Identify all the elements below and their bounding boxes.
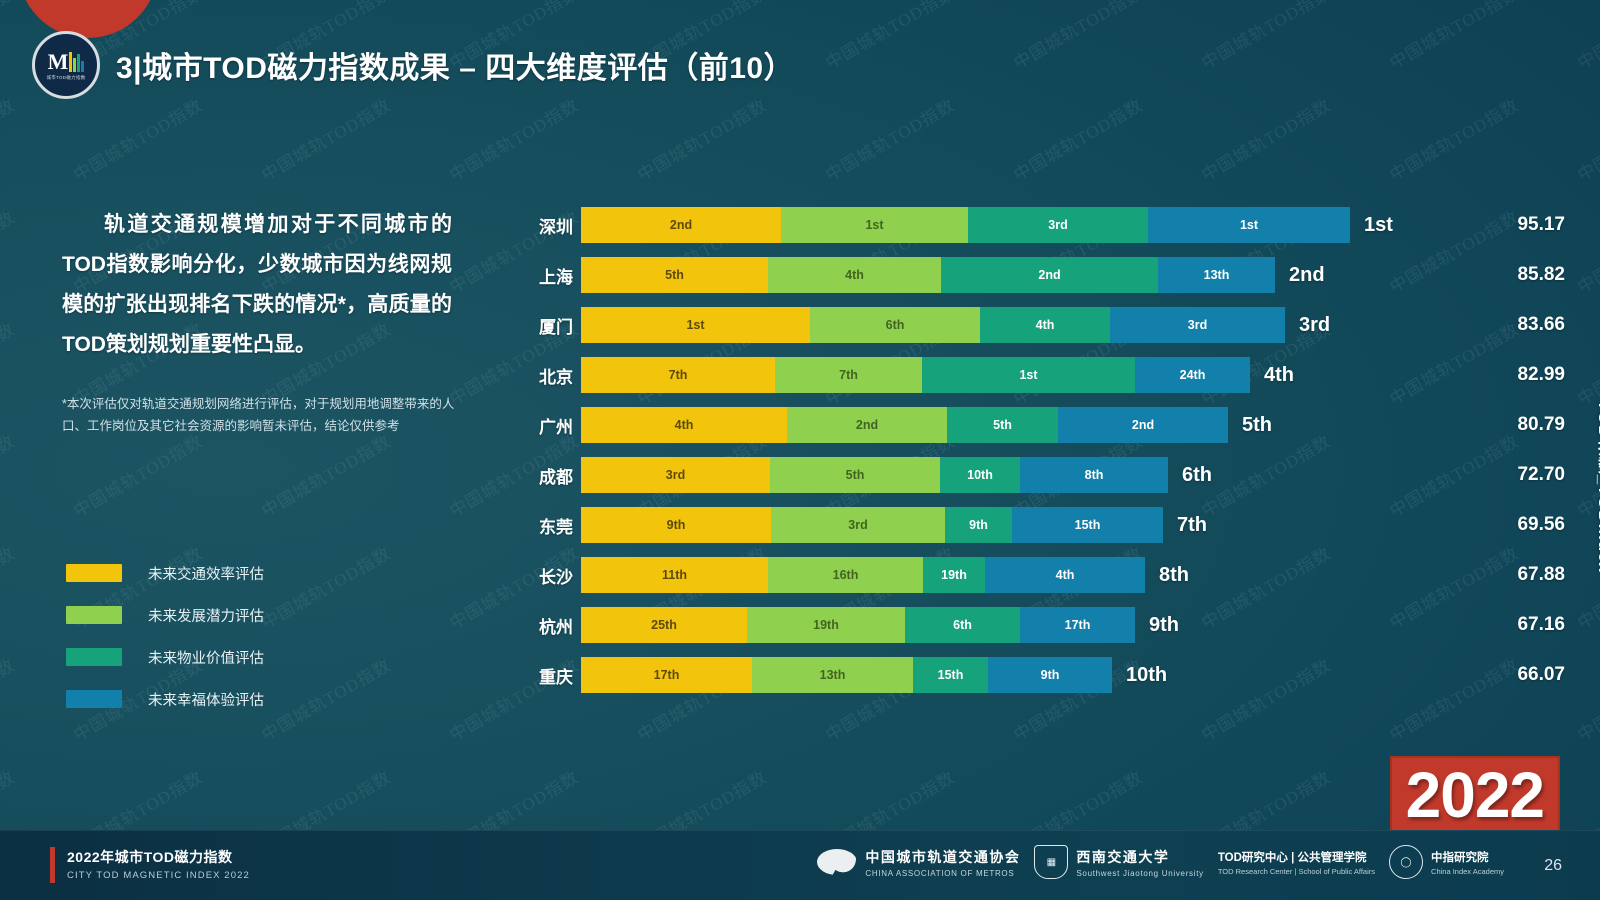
- bar-segment[interactable]: 3rd: [771, 507, 945, 543]
- footer-logo-en: Southwest Jiaotong University: [1076, 869, 1203, 878]
- bar-track: 1st6th4th3rd: [581, 307, 1285, 343]
- watermark-text: 中国城轨TOD指数: [1572, 91, 1600, 185]
- total-rank-label: 4th: [1264, 364, 1294, 387]
- total-rank-label: 10th: [1126, 664, 1167, 687]
- index-value: 83.66: [1469, 314, 1565, 336]
- bar-segment[interactable]: 7th: [775, 357, 922, 393]
- watermark-text: 中国城轨TOD指数: [256, 427, 395, 521]
- legend-item: 未来发展潜力评估: [66, 600, 264, 630]
- bar-track: 17th13th15th9th: [581, 657, 1112, 693]
- slide-header: M 城市TOD磁力指数 3|城市TOD磁力指数成果 – 四大维度评估（前10）: [0, 22, 794, 108]
- watermark-text: 中国城轨TOD指数: [1384, 91, 1523, 185]
- legend-label: 未来交通效率评估: [148, 563, 264, 584]
- logo-bar-4: [81, 61, 84, 72]
- legend-label: 未来物业价值评估: [148, 647, 264, 668]
- bar-track: 25th19th6th17th: [581, 607, 1135, 643]
- bar-segment[interactable]: 4th: [581, 407, 787, 443]
- chart-row: 上海5th4th2nd13th2nd85.82: [505, 250, 1565, 300]
- index-value: 67.16: [1469, 614, 1565, 636]
- slide-footer: 2022年城市TOD磁力指数 CITY TOD MAGNETIC INDEX 2…: [0, 830, 1600, 900]
- city-label: 北京: [505, 363, 573, 388]
- index-value: 66.07: [1469, 664, 1565, 686]
- bar-segment[interactable]: 16th: [768, 557, 923, 593]
- index-value: 67.88: [1469, 564, 1565, 586]
- watermark-text: 中国城轨TOD指数: [1196, 91, 1335, 185]
- watermark-text: 中国城轨TOD指数: [0, 651, 19, 745]
- watermark-text: 中国城轨TOD指数: [820, 91, 959, 185]
- legend-label: 未来发展潜力评估: [148, 605, 264, 626]
- watermark-text: 中国城轨TOD指数: [1384, 0, 1523, 74]
- bar-segment[interactable]: 13th: [1158, 257, 1275, 293]
- city-label: 深圳: [505, 213, 573, 238]
- index-value: 69.56: [1469, 514, 1565, 536]
- bar-segment[interactable]: 25th: [581, 607, 747, 643]
- bar-segment[interactable]: 3rd: [581, 457, 770, 493]
- legend-swatch-icon: [66, 690, 122, 708]
- page-number: 26: [1544, 857, 1562, 875]
- chart-row: 东莞9th3rd9th15th7th69.56: [505, 500, 1565, 550]
- watermark-text: 中国城轨TOD指数: [1572, 651, 1600, 745]
- watermark-text: 中国城轨TOD指数: [68, 427, 207, 521]
- city-label: 长沙: [505, 563, 573, 588]
- bar-track: 9th3rd9th15th: [581, 507, 1163, 543]
- total-rank-label: 2nd: [1289, 264, 1325, 287]
- logo-letter: M: [48, 52, 69, 72]
- index-academy-icon: ◯: [1389, 845, 1423, 879]
- city-label: 上海: [505, 263, 573, 288]
- watermark-text: 中国城轨TOD指数: [1008, 0, 1147, 74]
- footer-logo-index-academy: ◯ 中指研究院 China Index Academy: [1389, 845, 1504, 879]
- bar-segment[interactable]: 3rd: [1110, 307, 1285, 343]
- total-rank-label: 5th: [1242, 414, 1272, 437]
- bar-segment[interactable]: 2nd: [941, 257, 1158, 293]
- footer-brand: 2022年城市TOD磁力指数 CITY TOD MAGNETIC INDEX 2…: [50, 847, 250, 883]
- legend-item: 未来交通效率评估: [66, 558, 264, 588]
- footer-accent-bar: [50, 847, 55, 883]
- total-rank-label: 7th: [1177, 514, 1207, 537]
- chart-row: 重庆17th13th15th9th10th66.07: [505, 650, 1565, 700]
- bar-track: 4th2nd5th2nd: [581, 407, 1228, 443]
- bar-segment[interactable]: 17th: [1020, 607, 1135, 643]
- lead-paragraph: 轨道交通规模增加对于不同城市的TOD指数影响分化，少数城市因为线网规模的扩张出现…: [62, 205, 452, 365]
- legend-item: 未来物业价值评估: [66, 642, 264, 672]
- bar-segment[interactable]: 11th: [581, 557, 768, 593]
- bar-segment[interactable]: 24th: [1135, 357, 1250, 393]
- footer-logo-en: TOD Research Center | School of Public A…: [1218, 867, 1375, 876]
- total-rank-label: 3rd: [1299, 314, 1330, 337]
- bar-segment[interactable]: 5th: [770, 457, 940, 493]
- logo-bar-3: [77, 54, 80, 72]
- index-value: 95.17: [1469, 214, 1565, 236]
- bar-segment[interactable]: 1st: [1148, 207, 1350, 243]
- metro-swoosh-icon: [817, 849, 857, 875]
- page-title: 3|城市TOD磁力指数成果 – 四大维度评估（前10）: [116, 43, 794, 87]
- chart-row: 厦门1st6th4th3rd3rd83.66: [505, 300, 1565, 350]
- city-label: 杭州: [505, 613, 573, 638]
- bar-segment[interactable]: 9th: [945, 507, 1012, 543]
- bar-segment[interactable]: 19th: [747, 607, 905, 643]
- watermark-text: 中国城轨TOD指数: [1572, 203, 1600, 297]
- chart-axis-label: TOD指数_TODIndex: [1592, 400, 1600, 573]
- total-rank-label: 8th: [1159, 564, 1189, 587]
- year-badge: 2022: [1390, 756, 1560, 838]
- chart-row: 长沙11th16th19th4th8th67.88: [505, 550, 1565, 600]
- bar-segment[interactable]: 13th: [752, 657, 913, 693]
- legend-item: 未来幸福体验评估: [66, 684, 264, 714]
- watermark-text: 中国城轨TOD指数: [0, 315, 19, 409]
- bar-segment[interactable]: 9th: [988, 657, 1112, 693]
- bar-segment[interactable]: 8th: [1020, 457, 1168, 493]
- footer-logo-cn: 中国城市轨道交通协会: [865, 847, 1020, 867]
- chart-row: 广州4th2nd5th2nd5th80.79: [505, 400, 1565, 450]
- bar-segment[interactable]: 2nd: [581, 207, 781, 243]
- city-label: 广州: [505, 413, 573, 438]
- tod-index-logo-icon: M 城市TOD磁力指数: [32, 31, 100, 99]
- watermark-text: 中国城轨TOD指数: [0, 539, 19, 633]
- year-badge-label: 2022: [1406, 764, 1544, 826]
- index-value: 82.99: [1469, 364, 1565, 386]
- bar-segment[interactable]: 1st: [922, 357, 1135, 393]
- bar-segment[interactable]: 3rd: [968, 207, 1148, 243]
- logo-bar-1: [69, 52, 72, 72]
- bar-segment[interactable]: 10th: [940, 457, 1020, 493]
- chart-row: 杭州25th19th6th17th9th67.16: [505, 600, 1565, 650]
- watermark-text: 中国城轨TOD指数: [0, 203, 19, 297]
- bar-track: 2nd1st3rd1st: [581, 207, 1350, 243]
- logo-bar-2: [73, 58, 76, 72]
- total-rank-label: 6th: [1182, 464, 1212, 487]
- bar-segment[interactable]: 7th: [581, 357, 775, 393]
- footer-logo-cn: 西南交通大学: [1076, 847, 1203, 867]
- footer-logo-cn: TOD研究中心 | 公共管理学院: [1218, 849, 1375, 865]
- footer-logo-swjtu: ▦ 西南交通大学 Southwest Jiaotong University: [1034, 845, 1203, 879]
- index-value: 72.70: [1469, 464, 1565, 486]
- legend-swatch-icon: [66, 648, 122, 666]
- footer-logo-cn: 中指研究院: [1431, 849, 1504, 865]
- footnote-text: *本次评估仅对轨道交通规划网络进行评估，对于规划用地调整带来的人口、工作岗位及其…: [62, 393, 472, 437]
- city-label: 重庆: [505, 663, 573, 688]
- bar-segment[interactable]: 4th: [985, 557, 1145, 593]
- chart-row: 北京7th7th1st24th4th82.99: [505, 350, 1565, 400]
- index-value: 85.82: [1469, 264, 1565, 286]
- bar-segment[interactable]: 6th: [810, 307, 980, 343]
- bar-segment[interactable]: 17th: [581, 657, 752, 693]
- bar-track: 3rd5th10th8th: [581, 457, 1168, 493]
- legend-label: 未来幸福体验评估: [148, 689, 264, 710]
- chart-row: 成都3rd5th10th8th6th72.70: [505, 450, 1565, 500]
- footer-brand-en: CITY TOD MAGNETIC INDEX 2022: [67, 870, 250, 881]
- watermark-text: 中国城轨TOD指数: [1196, 0, 1335, 74]
- watermark-text: 中国城轨TOD指数: [820, 0, 959, 74]
- bar-segment[interactable]: 5th: [581, 257, 768, 293]
- bar-segment[interactable]: 15th: [913, 657, 988, 693]
- total-rank-label: 1st: [1364, 214, 1393, 237]
- city-label: 东莞: [505, 513, 573, 538]
- bar-track: 7th7th1st24th: [581, 357, 1250, 393]
- bar-segment[interactable]: 9th: [581, 507, 771, 543]
- legend-swatch-icon: [66, 606, 122, 624]
- bar-segment[interactable]: 6th: [905, 607, 1020, 643]
- bar-segment[interactable]: 15th: [1012, 507, 1163, 543]
- watermark-text: 中国城轨TOD指数: [1572, 315, 1600, 409]
- university-shield-icon: ▦: [1034, 845, 1068, 879]
- bar-segment[interactable]: 2nd: [787, 407, 947, 443]
- bar-segment[interactable]: 4th: [768, 257, 941, 293]
- footer-brand-cn: 2022年城市TOD磁力指数: [67, 847, 250, 867]
- watermark-text: 中国城轨TOD指数: [256, 651, 395, 745]
- city-label: 厦门: [505, 313, 573, 338]
- logo-caption: 城市TOD磁力指数: [46, 75, 85, 81]
- bar-segment[interactable]: 1st: [581, 307, 810, 343]
- footer-logo-metros: 中国城市轨道交通协会 CHINA ASSOCIATION OF METROS: [817, 847, 1020, 878]
- watermark-text: 中国城轨TOD指数: [1572, 0, 1600, 74]
- bar-segment[interactable]: 2nd: [1058, 407, 1228, 443]
- chart-rows: 深圳2nd1st3rd1st1st95.17上海5th4th2nd13th2nd…: [505, 200, 1565, 700]
- footer-logo-en: CHINA ASSOCIATION OF METROS: [865, 869, 1020, 878]
- legend-swatch-icon: [66, 564, 122, 582]
- slide-root: 中国城轨TOD指数中国城轨TOD指数中国城轨TOD指数中国城轨TOD指数中国城轨…: [0, 0, 1600, 900]
- watermark-text: 中国城轨TOD指数: [0, 427, 19, 521]
- footer-logo-strip: 中国城市轨道交通协会 CHINA ASSOCIATION OF METROS ▦…: [817, 845, 1504, 879]
- footer-logo-en: China Index Academy: [1431, 867, 1504, 876]
- chart-row: 深圳2nd1st3rd1st1st95.17: [505, 200, 1565, 250]
- stacked-bar-chart: 深圳2nd1st3rd1st1st95.17上海5th4th2nd13th2nd…: [505, 200, 1565, 710]
- bar-segment[interactable]: 1st: [781, 207, 968, 243]
- bar-track: 5th4th2nd13th: [581, 257, 1275, 293]
- watermark-text: 中国城轨TOD指数: [256, 539, 395, 633]
- bar-segment[interactable]: 4th: [980, 307, 1110, 343]
- total-rank-label: 9th: [1149, 614, 1179, 637]
- footer-logo-tod-center: TOD研究中心 | 公共管理学院 TOD Research Center | S…: [1218, 849, 1375, 876]
- bar-track: 11th16th19th4th: [581, 557, 1145, 593]
- index-value: 80.79: [1469, 414, 1565, 436]
- city-label: 成都: [505, 463, 573, 488]
- bar-segment[interactable]: 19th: [923, 557, 985, 593]
- watermark-text: 中国城轨TOD指数: [1008, 91, 1147, 185]
- chart-legend: 未来交通效率评估 未来发展潜力评估 未来物业价值评估 未来幸福体验评估: [66, 558, 264, 726]
- bar-segment[interactable]: 5th: [947, 407, 1058, 443]
